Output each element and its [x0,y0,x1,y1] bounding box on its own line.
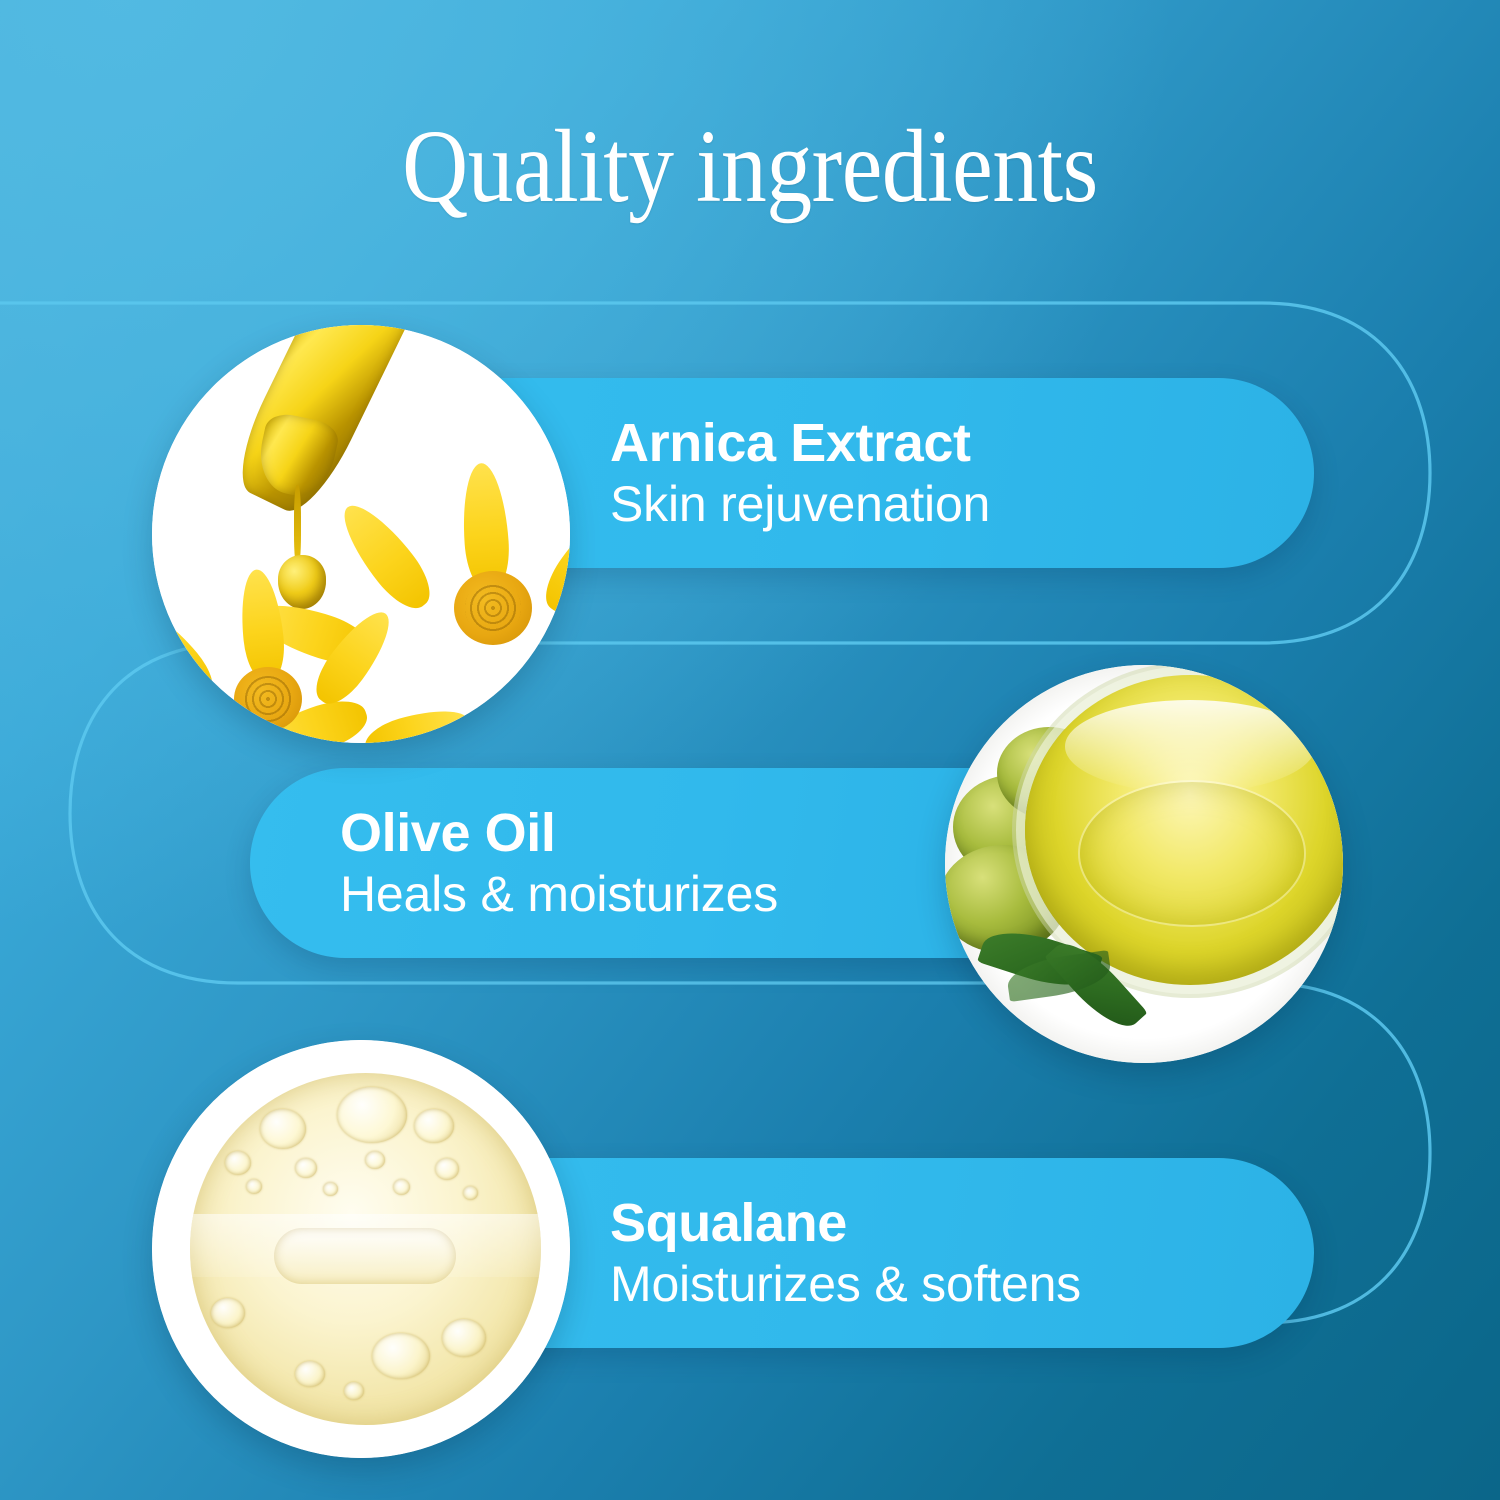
arnica-artwork [152,325,570,743]
ingredient-benefit-olive-oil: Heals & moisturizes [340,866,778,922]
ingredient-benefit-squalane: Moisturizes & softens [610,1256,1081,1312]
olive-oil-artwork [945,665,1343,1063]
ingredient-name-squalane: Squalane [610,1194,1081,1252]
ingredients-infographic: Quality ingredients Arnica Extract Skin … [0,0,1500,1500]
ingredient-image-arnica [152,325,570,743]
ingredient-text-olive-oil: Olive Oil Heals & moisturizes [340,804,778,922]
page-title: Quality ingredients [90,112,1410,221]
ingredient-image-squalane [152,1040,570,1458]
ingredient-benefit-arnica: Skin rejuvenation [610,476,990,532]
ingredient-text-arnica: Arnica Extract Skin rejuvenation [610,414,990,532]
ingredient-name-arnica: Arnica Extract [610,414,990,472]
ingredient-text-squalane: Squalane Moisturizes & softens [610,1194,1081,1312]
ingredient-name-olive-oil: Olive Oil [340,804,778,862]
squalane-artwork [152,1040,570,1458]
ingredient-image-olive-oil [945,665,1343,1063]
